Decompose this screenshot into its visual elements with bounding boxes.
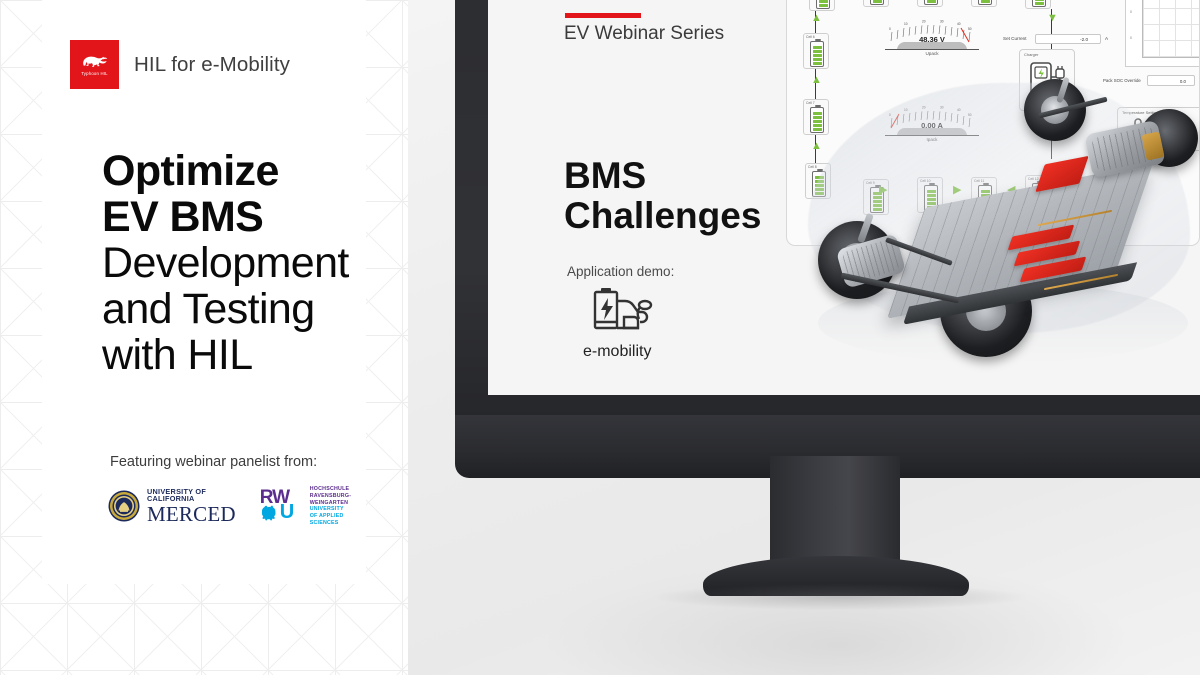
monitor-screen: EV Webinar Series Cell 1 Cell 2 Cell 3: [488, 0, 1200, 395]
battery-icon: [816, 0, 830, 9]
monitor-stand-neck: [770, 456, 900, 566]
set-current-input[interactable]: -2.0: [1035, 34, 1101, 44]
uc-merced-logo: UNIVERSITY OF CALIFORNIA MERCED: [108, 488, 236, 525]
accent-bar: [565, 13, 641, 18]
rwu-letter-u: U: [280, 502, 293, 522]
slide-title-line-2: Challenges: [564, 195, 761, 236]
battery-icon: [924, 0, 938, 5]
monitor-stand-shadow: [655, 584, 1025, 610]
svg-text:10: 10: [904, 22, 908, 26]
application-demo-label: Application demo:: [567, 264, 674, 279]
cell-node[interactable]: Cell 2: [863, 0, 889, 7]
brand-tagline: HIL for e-Mobility: [134, 53, 290, 77]
uc-merced-line-1: UNIVERSITY OF CALIFORNIA: [147, 488, 236, 503]
svg-text:30: 30: [940, 20, 944, 24]
logo-wordmark: Typhoon HIL: [81, 71, 108, 76]
rwu-lion-icon: [261, 503, 280, 527]
cell-node[interactable]: Cell 3: [917, 0, 943, 7]
soc-chart-grid: [1142, 0, 1200, 58]
flow-arrow-icon: ▲: [811, 13, 822, 24]
svg-text:0: 0: [889, 27, 891, 31]
webinar-slide: EV Webinar Series Cell 1 Cell 2 Cell 3: [488, 0, 1200, 395]
cell-label: Cell 6: [806, 35, 815, 39]
brand-row: Typhoon HIL HIL for e-Mobility: [70, 40, 290, 89]
svg-text:20: 20: [922, 20, 926, 24]
headline-line-1: Optimize: [102, 148, 402, 194]
panelist-label: Featuring webinar panelist from:: [110, 454, 317, 470]
ev-charging-battery-car-icon: [593, 283, 655, 340]
gauge-base: [885, 49, 979, 50]
cell-node[interactable]: Cell 1: [809, 0, 835, 11]
svg-text:40: 40: [957, 22, 961, 26]
headline-line-2: EV BMS: [102, 194, 402, 240]
headline-line-5: with HIL: [102, 332, 402, 378]
set-current-row[interactable]: Set Current -2.0 A: [1003, 34, 1121, 45]
desktop-monitor: EV Webinar Series Cell 1 Cell 2 Cell 3: [455, 0, 1200, 478]
flow-arrow-icon: ▼: [1047, 13, 1058, 24]
rwu-mark: RW U: [260, 489, 304, 523]
headline-line-3: Development: [102, 240, 402, 286]
uc-merced-seal-icon: [108, 490, 140, 522]
rwu-line-2: RAVENSBURG-WEINGARTEN: [310, 493, 366, 507]
typhoon-hil-logo: Typhoon HIL: [70, 40, 119, 89]
svg-text:50: 50: [968, 27, 972, 31]
headline-line-4: and Testing: [102, 286, 402, 332]
rwu-line-3: UNIVERSITY: [310, 506, 366, 513]
panelist-logos: UNIVERSITY OF CALIFORNIA MERCED RW U HOC…: [108, 486, 366, 527]
elephant-icon: [80, 53, 110, 70]
rwu-line-4: OF APPLIED SCIENCES: [310, 513, 366, 527]
page-headline: Optimize EV BMS Development and Testing …: [102, 148, 402, 378]
rwu-line-1: HOCHSCHULE: [310, 486, 366, 493]
rwu-wordmark: HOCHSCHULE RAVENSBURG-WEINGARTEN UNIVERS…: [310, 486, 366, 527]
webinar-series-label: EV Webinar Series: [564, 23, 724, 45]
set-current-label: Set Current: [1003, 36, 1027, 41]
battery-icon: [870, 0, 884, 5]
ev-chassis-illustration: [788, 53, 1200, 395]
cell-node[interactable]: Cell 4: [971, 0, 997, 7]
slide-title-line-1: BMS: [564, 155, 646, 196]
soc-ytick: 0: [1130, 10, 1132, 14]
voltage-value: 48.36 V: [883, 35, 981, 44]
set-current-value: -2.0: [1080, 37, 1088, 42]
battery-icon: [978, 0, 992, 5]
uc-merced-wordmark: UNIVERSITY OF CALIFORNIA MERCED: [147, 488, 236, 525]
left-content-card: Typhoon HIL HIL for e-Mobility Optimize …: [42, 0, 366, 584]
uc-merced-line-2: MERCED: [147, 504, 236, 525]
cell-node[interactable]: Cell 5: [1025, 0, 1051, 9]
rwu-logo: RW U HOCHSCHULE RAVENSBURG-WEINGARTEN UN…: [260, 486, 366, 527]
battery-icon: [1032, 0, 1046, 7]
slide-title: BMS Challenges: [564, 156, 761, 236]
soc-ytick: 0: [1130, 36, 1132, 40]
set-current-unit: A: [1105, 36, 1108, 41]
demo-name-label: e-mobility: [583, 343, 651, 361]
